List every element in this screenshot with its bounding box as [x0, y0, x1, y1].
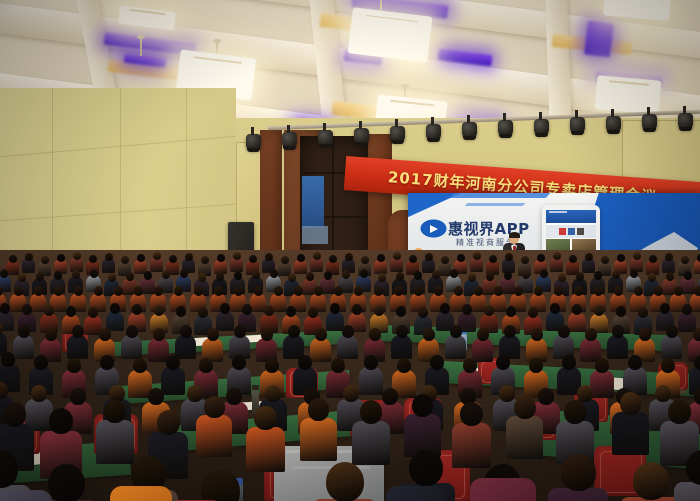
audience-member-head [534, 286, 543, 296]
audience-member-torso [391, 335, 412, 359]
audience-member-head [105, 253, 113, 261]
audience-member-head [528, 307, 538, 318]
audience-member-head [595, 358, 609, 373]
par-light-icon [462, 122, 477, 138]
audience-member-torso [445, 335, 466, 359]
audience-member-head [198, 273, 206, 282]
audience-member-torso [216, 311, 234, 331]
audience-member-head [270, 269, 278, 278]
par-light-icon [498, 120, 513, 136]
audience-member-head [54, 271, 62, 280]
audience-member-head [360, 400, 382, 424]
audience-member-head [0, 269, 8, 278]
dark-jacket [386, 486, 446, 501]
audience-member-head [342, 325, 354, 338]
audience-member-head [633, 462, 669, 500]
audience-member-head [682, 304, 692, 315]
audience-member-head [504, 325, 516, 338]
audience-member-head [460, 402, 483, 426]
audience-member-head [550, 303, 560, 314]
audience-member-head [234, 271, 242, 280]
audience-member-head [450, 325, 462, 338]
audience-member-head [585, 328, 597, 341]
audience-member-head [298, 355, 312, 370]
audience-member-head [265, 385, 281, 402]
audience-member-head [345, 253, 353, 261]
audience-member-head [204, 396, 225, 418]
audience-member-head [265, 253, 273, 261]
audience-member-head [352, 304, 362, 315]
doorway-background-object [302, 176, 324, 228]
audience-member-head [331, 358, 345, 373]
audience-member-head [297, 254, 305, 262]
audience-member-head [216, 272, 224, 281]
audience-member-head [572, 304, 582, 315]
audience-member-head [654, 286, 663, 296]
audience-member-head [232, 355, 246, 370]
audience-member-head [585, 253, 593, 261]
audience-member-head [414, 271, 422, 280]
audience-member-head [432, 270, 440, 279]
audience-member-head [441, 256, 449, 264]
audience-member-head [494, 286, 503, 296]
audience-member-head [74, 286, 83, 296]
pendant-stem [140, 38, 142, 56]
audience-member-head [558, 273, 566, 282]
audience-member-head [314, 286, 323, 296]
audience-member-head [207, 328, 219, 341]
audience-member-head [694, 355, 700, 370]
audience-member-head [364, 355, 378, 370]
audience-member-head [67, 358, 81, 373]
audience-member-head [361, 256, 369, 264]
audience-member-torso [121, 335, 142, 359]
audience-member-torso [607, 335, 628, 359]
audience-member-head [288, 325, 300, 338]
audience-member-torso [678, 312, 696, 332]
audience-member-head [34, 355, 48, 370]
audience-member-head [354, 286, 363, 296]
audience-member-head [217, 254, 225, 262]
audience-member-torso [337, 335, 358, 359]
audience-member-head [226, 388, 242, 405]
audience-member-head [133, 358, 147, 373]
audience-member-head [369, 328, 381, 341]
audience-member-head [514, 286, 523, 296]
audience-member-head [661, 358, 675, 373]
audience-member-head [499, 385, 515, 402]
maroon-jacket [470, 478, 536, 501]
grey-jacket [0, 490, 52, 501]
audience-member-head [377, 254, 385, 262]
presenter-hair [509, 232, 520, 238]
audience-member-torso [674, 482, 700, 501]
audience-member-head [31, 385, 47, 402]
audience-member-head [374, 305, 384, 316]
audience-member-head [18, 325, 30, 338]
audience-member-head [504, 271, 512, 280]
audience-member-torso [161, 367, 185, 395]
audience-member-head [473, 252, 481, 260]
audience-member-head [576, 272, 584, 281]
audience-member-head [540, 269, 548, 278]
audience-member-head [326, 462, 364, 501]
audience-member-head [324, 271, 332, 280]
audience-member-torso [196, 415, 232, 457]
audience-member-head [41, 256, 49, 264]
audience-member-head [90, 269, 98, 278]
ceiling-light-panel [603, 0, 671, 21]
audience-member-head [94, 286, 103, 296]
audience-member-torso [506, 416, 543, 459]
audience-member-head [601, 256, 609, 264]
audience-member-head [25, 253, 33, 261]
audience-member-head [396, 306, 406, 317]
audience-member-head [254, 406, 277, 430]
audience-member-head [617, 254, 625, 262]
audience-member-head [666, 272, 674, 281]
audience-member-head [288, 273, 296, 282]
audience-member-head [620, 392, 641, 415]
audience-member-head [49, 408, 73, 434]
audience-member-head [553, 252, 561, 260]
audience-member-head [639, 328, 651, 341]
ceiling-light-panel [347, 7, 432, 62]
wall-seam [0, 136, 235, 158]
audience-member-head [574, 286, 583, 296]
audience-member-head [564, 400, 586, 424]
audience-member-head [409, 255, 417, 263]
audience-member-head [561, 454, 596, 491]
audience-member-head [425, 253, 433, 261]
par-light-icon [678, 113, 693, 129]
audience-member-head [665, 253, 673, 261]
par-light-icon [282, 132, 297, 148]
audience-member-head [114, 286, 123, 296]
audience-member-head [414, 286, 423, 296]
audience-member-head [562, 355, 576, 370]
audience-member-head [220, 303, 230, 314]
audience-member-head [0, 303, 10, 314]
par-light-icon [354, 128, 369, 144]
doorway-background-object [302, 226, 328, 244]
audience-member-head [144, 271, 152, 280]
audience-member-head [169, 255, 177, 263]
audience-member-head [486, 272, 494, 281]
audience-member-head [89, 255, 97, 263]
audience-member-head [489, 255, 497, 263]
audience-member-head [440, 303, 450, 314]
audience-member-head [261, 328, 273, 341]
par-light-icon [246, 134, 261, 150]
audience-member-head [412, 394, 433, 417]
audience-member-head [474, 286, 483, 296]
audience-member-head [286, 306, 296, 317]
audience-member-head [36, 272, 44, 281]
audience-member-head [214, 286, 223, 296]
slide-stripe [465, 203, 526, 206]
audience-member-torso [310, 338, 331, 362]
audience-member-head [514, 396, 536, 419]
audience-member-head [577, 385, 593, 402]
audience-member-head [281, 256, 289, 264]
audience-member-head [505, 253, 513, 261]
audience-member-head [612, 270, 620, 279]
audience-member-torso [590, 370, 614, 398]
audience-member-head [612, 325, 624, 338]
audience-member-head [162, 270, 170, 279]
audience-member-head [522, 270, 530, 279]
par-light-icon [390, 126, 405, 142]
audience-member-head [201, 256, 209, 264]
audience-member-head [558, 325, 570, 338]
bottle-cap [252, 385, 259, 390]
audience-member-head [693, 328, 700, 341]
audience-member-head [234, 325, 246, 338]
audience-member-head [394, 286, 403, 296]
audience-member-torso [67, 335, 88, 359]
par-light-icon [534, 119, 549, 135]
audience-member-head [378, 273, 386, 282]
audience-member-head [187, 385, 203, 402]
audience-member-head [463, 358, 477, 373]
audience-member-head [638, 307, 648, 318]
audience-member-head [484, 305, 494, 316]
audience-member-head [529, 358, 543, 373]
audience-member-head [264, 305, 274, 316]
audience-member-head [628, 355, 642, 370]
audience-member-head [684, 271, 692, 280]
audience-member-head [198, 307, 208, 318]
audience-member-head [537, 254, 545, 262]
audience-member-head [110, 303, 120, 314]
audience-member-head [630, 269, 638, 278]
audience-member-head [185, 253, 193, 261]
audience-member-head [396, 272, 404, 281]
audience-member-head [315, 328, 327, 341]
audience-member-head [54, 286, 63, 296]
audience-member-torso [300, 418, 337, 461]
audience-member-head [73, 252, 81, 260]
audience-member-head [655, 385, 671, 402]
audience-member-torso [13, 335, 34, 359]
audience-member-head [633, 252, 641, 260]
audience-member-head [334, 286, 343, 296]
audience-member-head [457, 254, 465, 262]
audience-member-head [274, 286, 283, 296]
audience-member-head [393, 252, 401, 260]
audience-member-torso [612, 412, 649, 455]
audience-member-head [666, 325, 678, 338]
audience-member-head [14, 286, 23, 296]
audience-member-head [450, 269, 458, 278]
par-light-icon [318, 130, 333, 146]
audience-member-head [594, 286, 603, 296]
audience-member-head [306, 272, 314, 281]
audience-member-head [308, 307, 318, 318]
audience-member-head [397, 358, 411, 373]
audience-member-head [126, 272, 134, 281]
audience-member-torso [568, 312, 586, 332]
audience-member-head [34, 286, 43, 296]
audience-member-head [308, 398, 329, 421]
audience-member-head [668, 400, 691, 424]
audience-member-head [9, 255, 17, 263]
slide-stripe [450, 193, 551, 198]
audience-member-head [614, 286, 623, 296]
audience-member-head [126, 325, 138, 338]
audience-member-torso [246, 427, 285, 472]
audience-member-head [434, 286, 443, 296]
par-light-icon [642, 114, 657, 130]
par-light-icon [606, 116, 621, 132]
orange-jacket [110, 486, 172, 501]
audience-member-head [462, 304, 472, 315]
audience-member-head [634, 286, 643, 296]
audience-member-head [194, 286, 203, 296]
audience-member-head [342, 270, 350, 279]
audience-member-head [681, 256, 689, 264]
audience-member-head [148, 388, 164, 405]
audience-member-head [44, 305, 54, 316]
audience-member-head [343, 385, 359, 402]
audience-member-head [252, 270, 260, 279]
audience-member-head [594, 271, 602, 280]
audience-member-head [254, 286, 263, 296]
audience-member-head [48, 464, 85, 501]
audience-member-head [57, 254, 65, 262]
audience-member-torso [96, 420, 134, 464]
audience-member-head [430, 355, 444, 370]
audience-member-head [108, 273, 116, 282]
audience-member-head [313, 252, 321, 260]
audience-member-head [18, 273, 26, 282]
audience-member-head [409, 450, 443, 486]
audience-member-head [22, 304, 32, 315]
cove-light-blue [584, 21, 614, 58]
audience-member-head [616, 306, 626, 317]
audience-member-head [3, 402, 26, 427]
audience-member-head [174, 286, 183, 296]
audience-member-head [538, 388, 554, 405]
audience-member-head [70, 388, 86, 405]
audience-member-head [157, 410, 180, 435]
audience-member-head [569, 255, 577, 263]
audience-member-head [329, 255, 337, 263]
audience-member-head [201, 470, 240, 501]
audience-member-torso [472, 338, 493, 362]
audience-member-head [176, 306, 186, 317]
audience-member-head [100, 355, 114, 370]
audience-member-head [132, 304, 142, 315]
audience-member-head [360, 269, 368, 278]
audience-member-torso [661, 335, 682, 359]
audience-member-head [330, 303, 340, 314]
audience-member-head [660, 303, 670, 314]
audience-member-head [521, 256, 529, 264]
audience-member-head [1, 352, 15, 367]
audience-member-head [418, 307, 428, 318]
audience-member-head [134, 286, 143, 296]
audience-member-head [166, 355, 180, 370]
audience-member-head [66, 306, 76, 317]
audience-member-head [649, 255, 657, 263]
audience-member-head [153, 252, 161, 260]
audience-seating-area [0, 250, 700, 501]
audience-member-head [180, 269, 188, 278]
audience-member-head [99, 328, 111, 341]
audience-member-head [648, 273, 656, 282]
audience-member-head [249, 255, 257, 263]
audience-member-head [72, 270, 80, 279]
audience-member-head [154, 286, 163, 296]
audience-member-head [674, 286, 683, 296]
audience-member-torso [452, 423, 491, 468]
audience-member-torso [359, 367, 383, 395]
pendant-cap [213, 39, 221, 43]
audience-member-head [153, 328, 165, 341]
audience-member-torso [106, 311, 124, 331]
audience-member-head [454, 286, 463, 296]
audience-member-head [396, 325, 408, 338]
ceiling-light-panel [595, 75, 662, 114]
par-light-icon [570, 117, 585, 133]
audience-member-head [45, 328, 57, 341]
audience-member-head [506, 306, 516, 317]
audience-member-head [477, 328, 489, 341]
audience-member-head [423, 328, 435, 341]
audience-member-torso [352, 421, 390, 465]
audience-member-head [374, 286, 383, 296]
audience-member-head [242, 304, 252, 315]
audience-member-head [265, 358, 279, 373]
audience-member-head [137, 254, 145, 262]
audience-member-torso [175, 335, 196, 359]
audience-member-head [382, 388, 398, 405]
tablet-hero-banner [546, 225, 596, 238]
audience-member-head [294, 286, 303, 296]
audience-member-head [233, 252, 241, 260]
audience-member-head [468, 273, 476, 282]
audience-member-head [154, 305, 164, 316]
audience-member-head [496, 355, 510, 370]
hui-shi-jie-logo-icon [422, 221, 445, 236]
audience-member-head [121, 256, 129, 264]
par-light-icon [426, 124, 441, 140]
pendant-cap [137, 35, 145, 39]
audience-member-head [594, 305, 604, 316]
audience-member-head [104, 400, 126, 423]
pendant-cap [401, 84, 409, 88]
audience-member-head [531, 328, 543, 341]
audience-member-head [199, 358, 213, 373]
audience-member-head [88, 307, 98, 318]
audience-member-torso [326, 311, 344, 331]
wall-seam [0, 204, 235, 221]
audience-member-head [694, 286, 700, 296]
tablet-app-header [546, 210, 596, 223]
audience-member-head [72, 325, 84, 338]
audience-member-head [234, 286, 243, 296]
conference-hall-photo: 2017财年河南分公司专卖店管理会议 惠视界APP 精准视商服务 [0, 0, 700, 501]
audience-member-head [180, 325, 192, 338]
audience-member-head [554, 286, 563, 296]
